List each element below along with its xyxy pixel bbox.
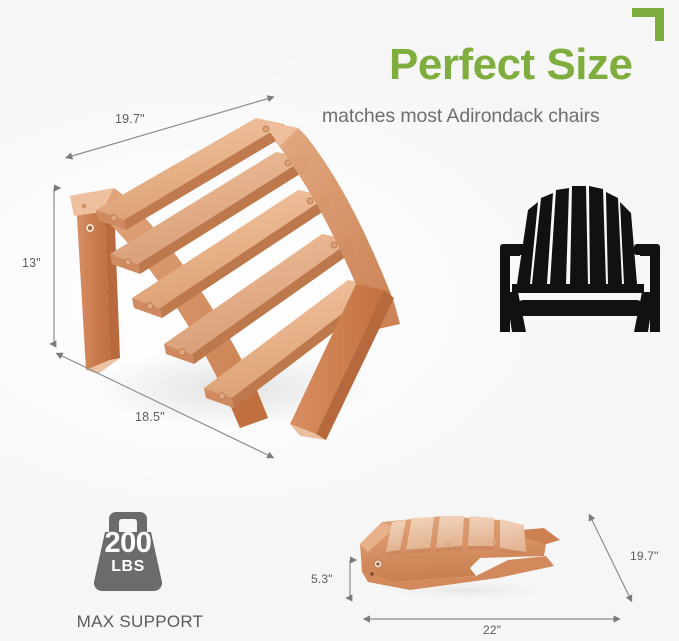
max-support-caption: MAX SUPPORT (60, 612, 220, 632)
dimension-label-folded-height: 5.3" (311, 572, 333, 586)
dimension-line-height (44, 180, 64, 352)
dimension-label-top-width: 19.7" (115, 112, 145, 126)
page-title: Perfect Size (389, 40, 632, 90)
dimension-label-depth: 18.5" (135, 410, 165, 424)
max-support-badge: 200 LBS (88, 508, 168, 592)
dimension-label-height: 13" (22, 256, 41, 270)
folded-product-illustration (348, 498, 598, 608)
max-support-unit: LBS (88, 558, 168, 576)
dimension-label-folded-depth: 19.7" (630, 549, 659, 563)
dimension-line-folded-height (342, 554, 358, 604)
dimension-line-depth (54, 348, 284, 468)
infographic-canvas: Perfect Size matches most Adirondack cha… (0, 0, 679, 641)
max-support-number: 200 (88, 528, 168, 558)
adirondack-chair-silhouette-icon (500, 172, 660, 332)
corner-bracket-icon (632, 8, 664, 41)
dimension-line-top-width (58, 94, 288, 164)
dimension-label-folded-width: 22" (483, 623, 501, 637)
